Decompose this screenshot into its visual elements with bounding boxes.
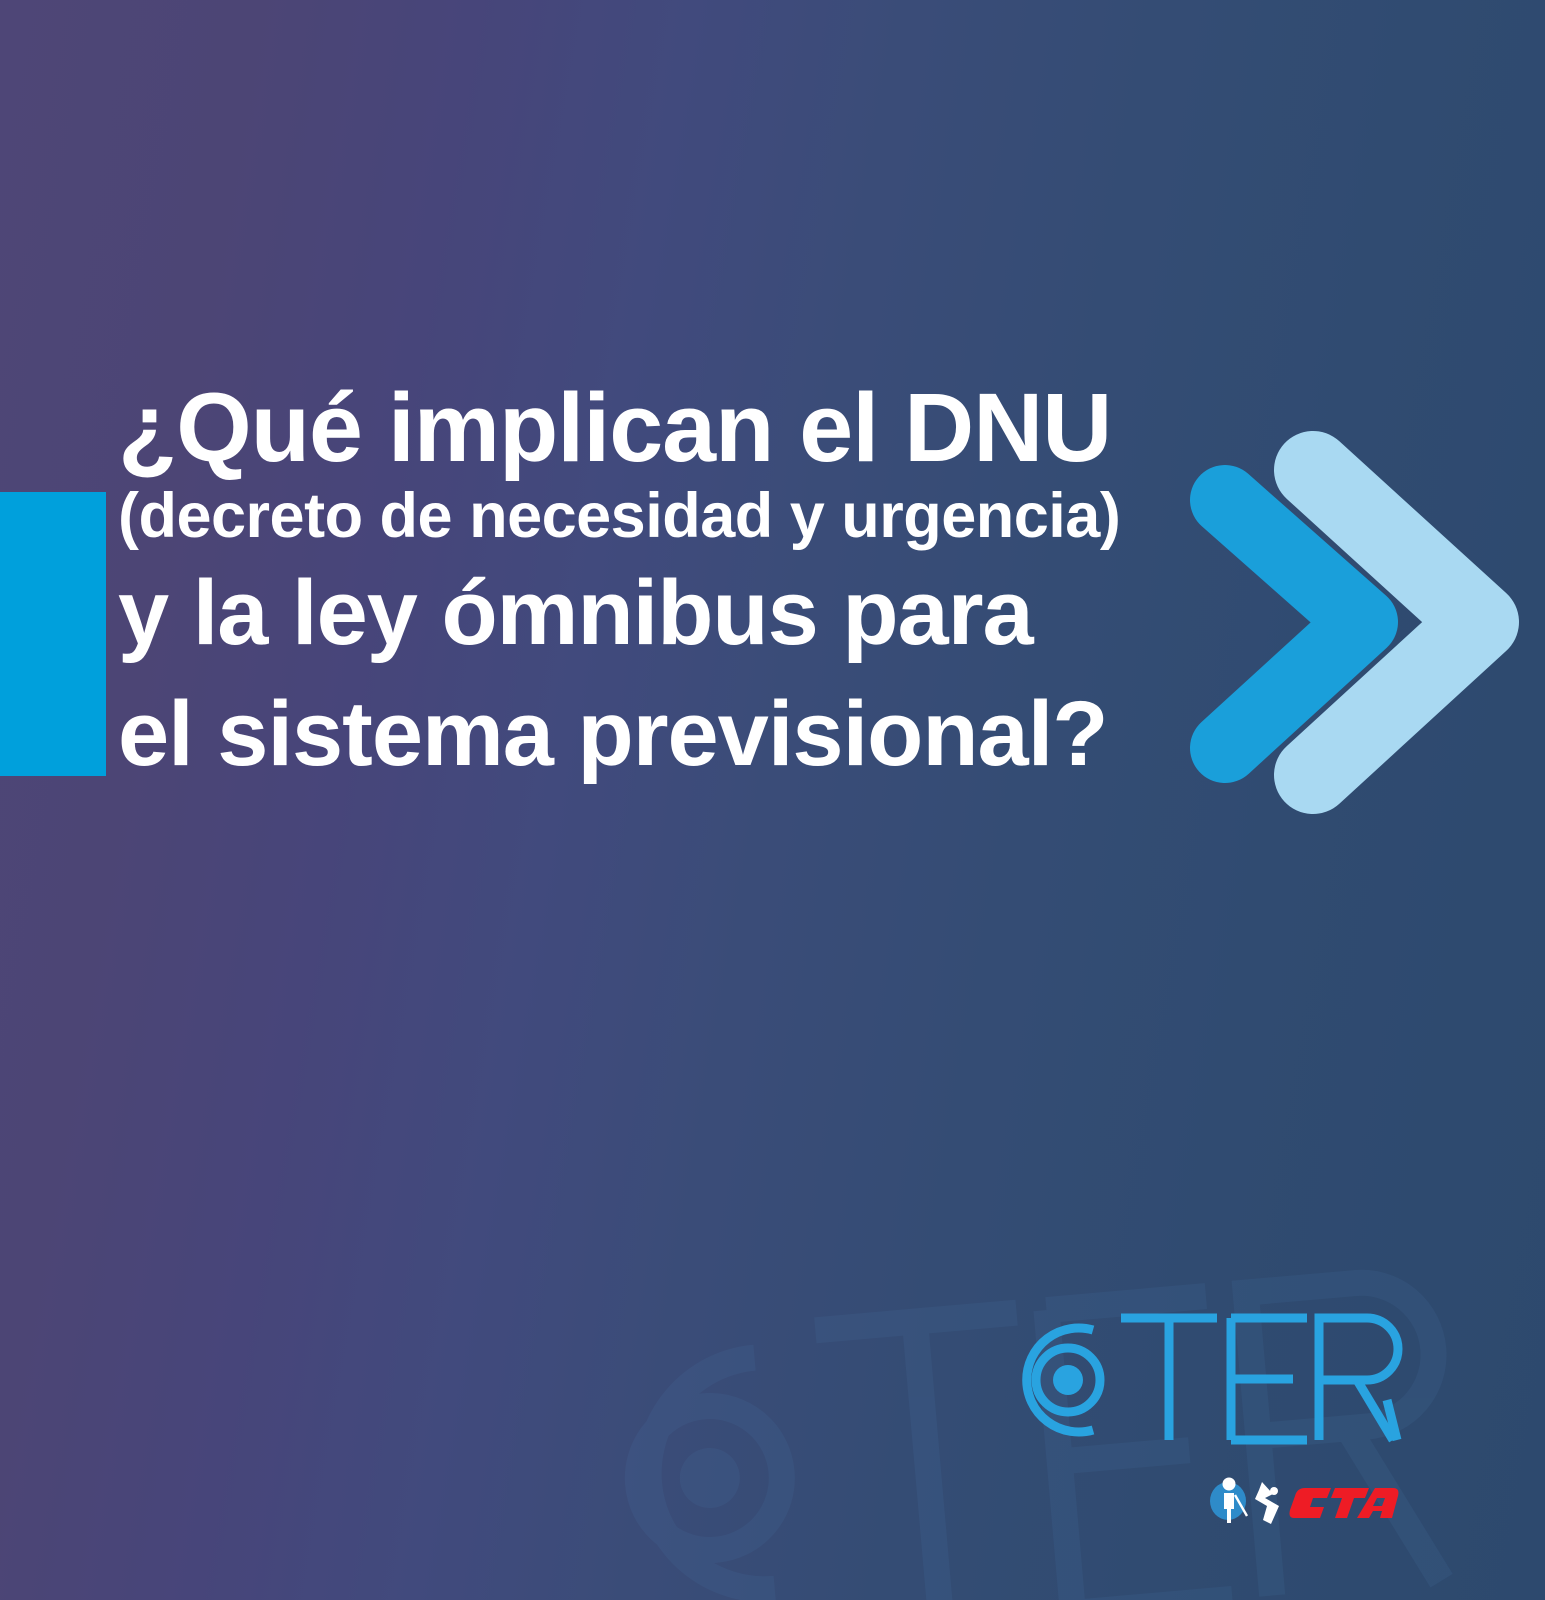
cta-wordmark	[1290, 1488, 1399, 1518]
social-card-canvas: ¿Qué implican el DNU (decreto de necesid…	[0, 0, 1545, 1600]
headline-line-3: y la ley ómnibus para	[118, 565, 1388, 662]
headline-line-1: ¿Qué implican el DNU	[118, 378, 1388, 478]
leaping-figure-icon	[1255, 1482, 1279, 1524]
left-accent-bar	[0, 492, 106, 776]
headline-line-2: (decreto de necesidad y urgencia)	[118, 482, 1388, 551]
cta-logo	[1205, 1468, 1400, 1533]
headline-block: ¿Qué implican el DNU (decreto de necesid…	[118, 378, 1388, 782]
headline-line-4: el sistema previsional?	[118, 686, 1388, 783]
ctera-logo	[995, 1300, 1405, 1450]
